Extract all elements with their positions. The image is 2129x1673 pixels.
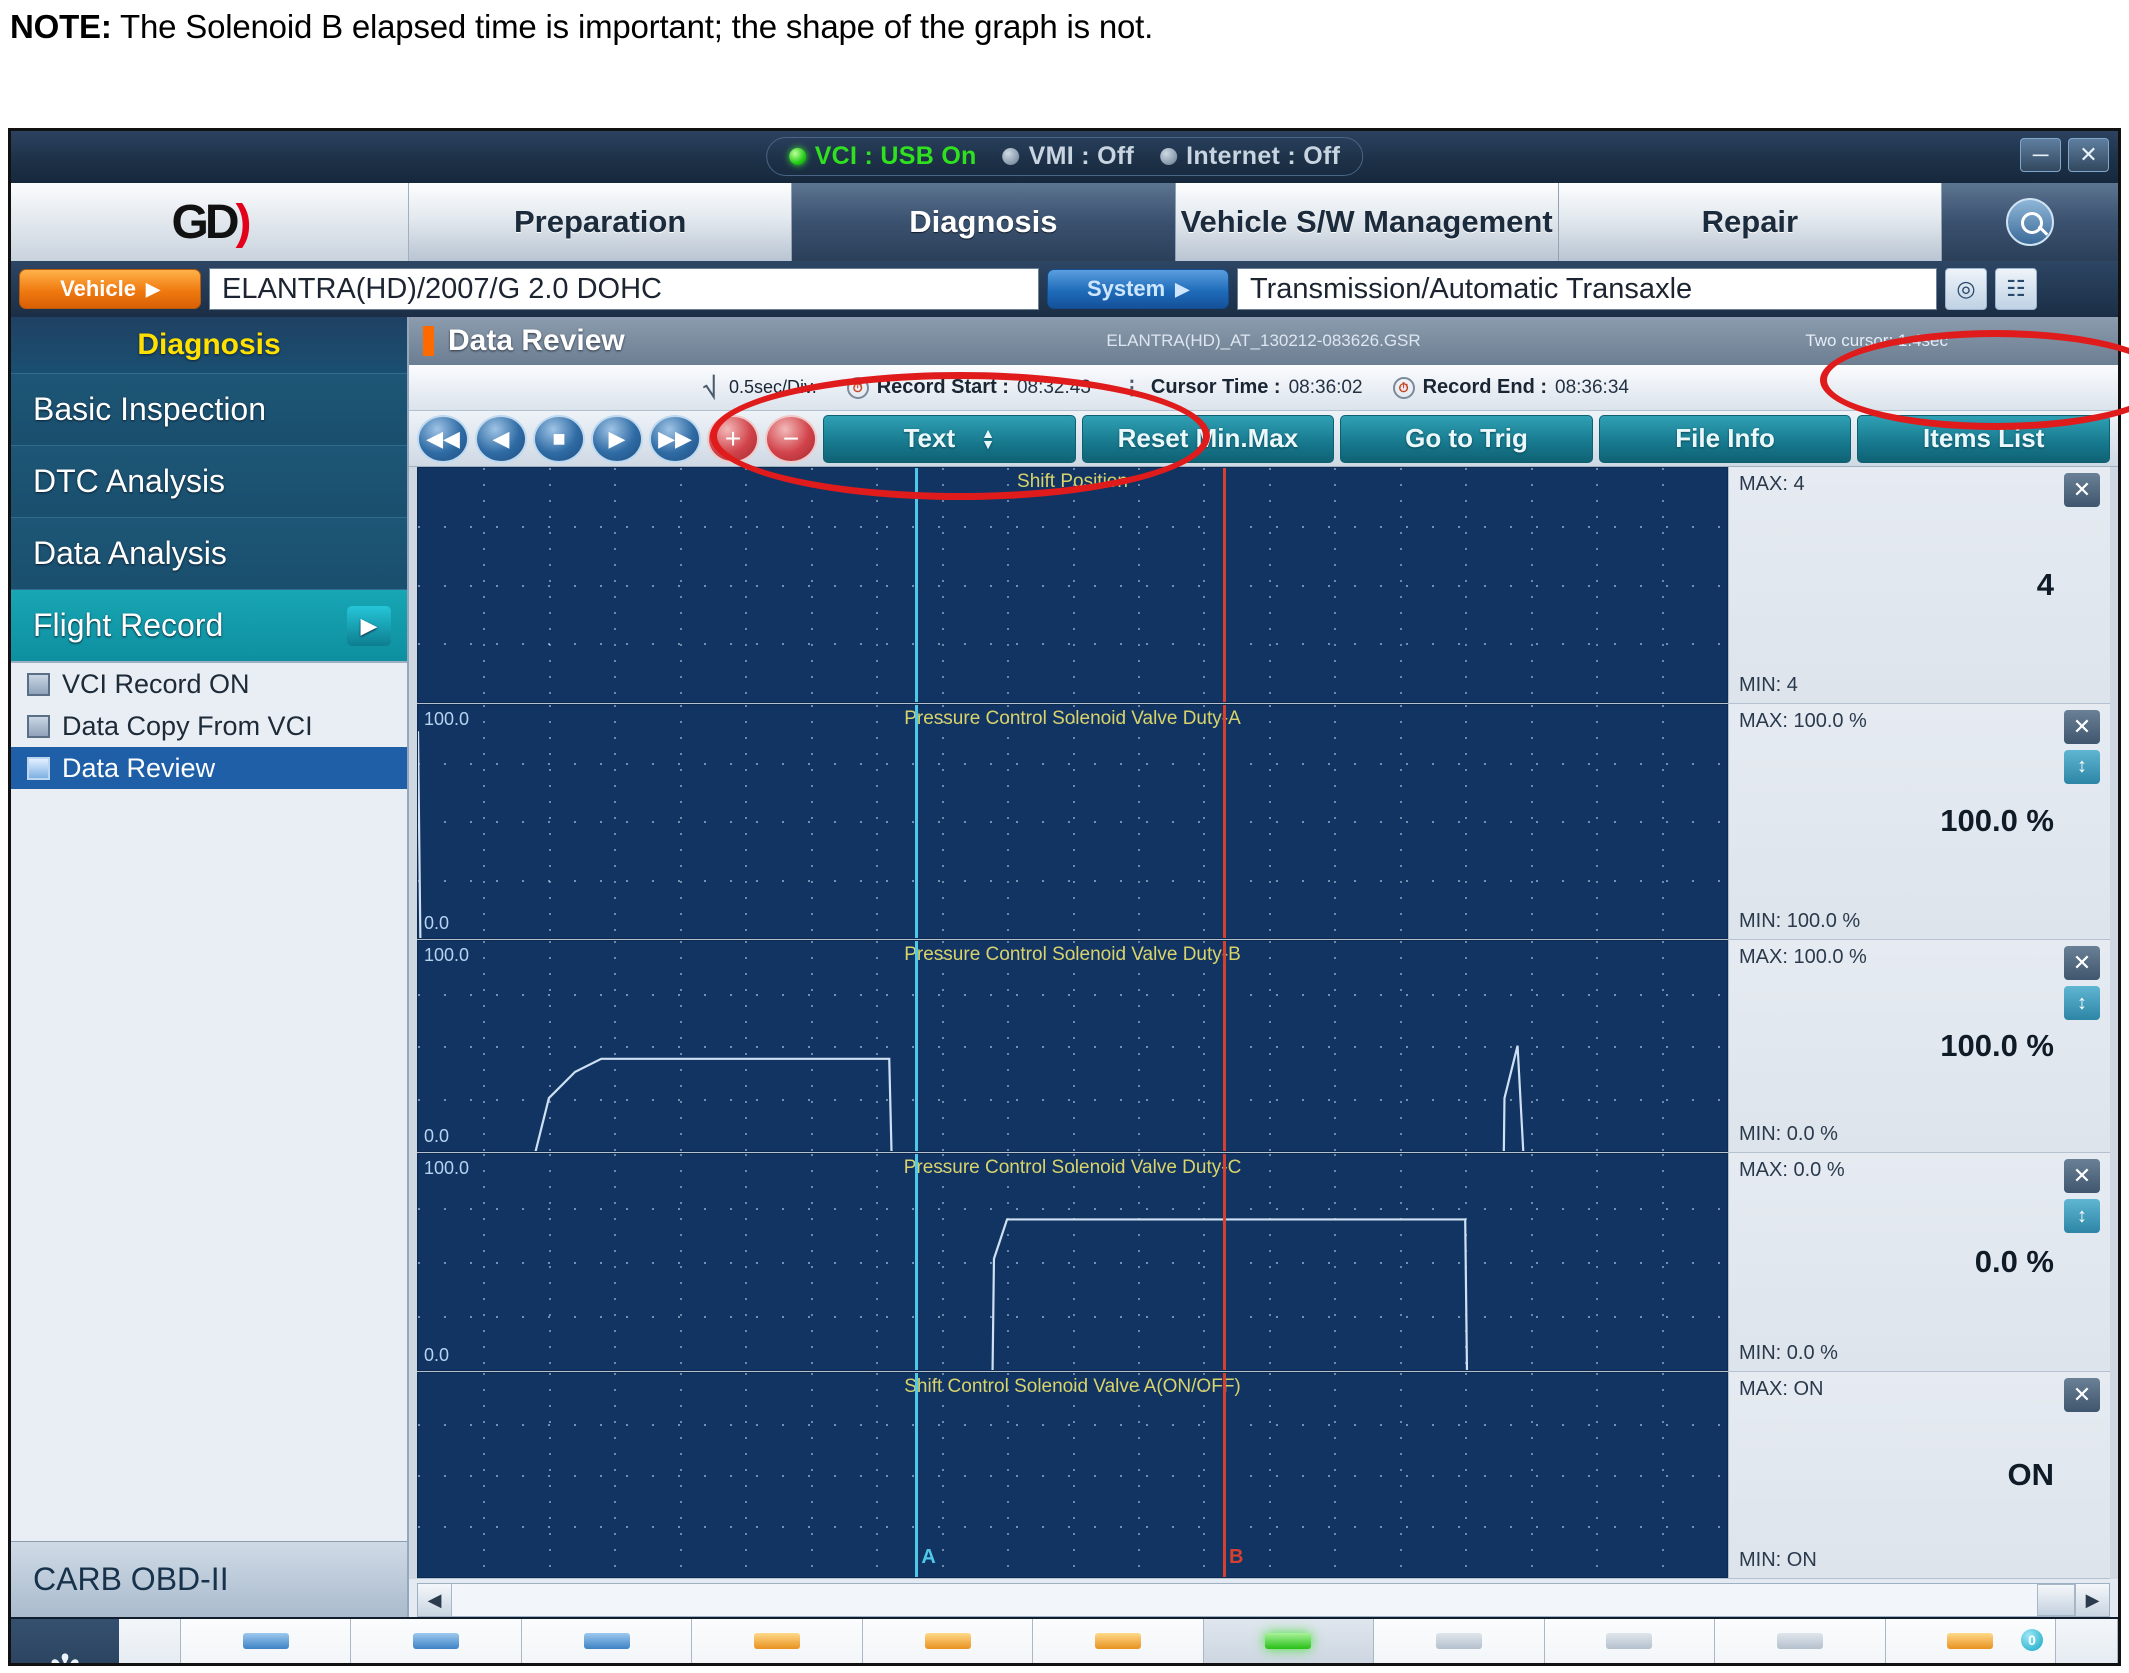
status-led-icon-0 — [243, 1633, 289, 1649]
window-controls: ─ ✕ — [2020, 138, 2109, 172]
graph-row-4: Shift Control Solenoid Valve A(ON/OFF)AB… — [417, 1372, 2110, 1579]
system-button-label: System — [1087, 276, 1165, 302]
forward-to-end-button[interactable]: ▶▶ — [649, 415, 701, 463]
status-led-icon-5 — [1095, 1633, 1141, 1649]
scale-icon-panel-2[interactable]: ↕ — [2064, 986, 2100, 1020]
data-trace-1 — [418, 705, 1727, 940]
list-icon-1 — [27, 673, 50, 696]
body-container: Diagnosis Basic Inspection DTC Analysis … — [11, 317, 2118, 1617]
plot-area-0[interactable]: Shift Position — [417, 467, 1728, 703]
graph-row-2: Pressure Control Solenoid Valve Duty-B10… — [417, 940, 2110, 1153]
stop-button[interactable]: ■ — [533, 415, 585, 463]
graph-panels: Shift PositionMAX: 4MIN: 44✕Pressure Con… — [409, 467, 2118, 1579]
tab-preparation[interactable]: Preparation — [409, 183, 792, 261]
vehicle-info-icon[interactable]: ☷ — [1995, 268, 2037, 310]
plot-area-2[interactable]: Pressure Control Solenoid Valve Duty-B10… — [417, 940, 1728, 1152]
funcbar-item-label-5: Actuation Test — [1037, 1665, 1198, 1666]
internet-led-icon — [1160, 148, 1177, 165]
cursor-a[interactable] — [915, 1154, 918, 1370]
data-trace-4 — [418, 1373, 1727, 1578]
display-mode-select[interactable]: Text ▲ ▼ — [823, 415, 1076, 463]
data-trace-3 — [418, 1154, 1727, 1371]
cursor-b[interactable] — [1223, 468, 1226, 702]
connection-status-bar: VCI : USB On VMI : Off Internet : Off ─ … — [11, 131, 2118, 183]
plot-area-1[interactable]: Pressure Control Solenoid Valve Duty-A10… — [417, 704, 1728, 940]
gear-icon: ✻ — [48, 1652, 82, 1666]
close-icon[interactable]: ✕ — [2068, 138, 2109, 172]
readout-panel-0: MAX: 4MIN: 44✕ — [1728, 467, 2110, 703]
cursor-a-label: A — [921, 1546, 935, 1569]
funcbar-item-case-analysis[interactable]: Case Analysis — [522, 1619, 692, 1666]
record-file-name: ELANTRA(HD)_AT_130212-083626.GSR — [1106, 331, 1420, 351]
internet-status-label: Internet : Off — [1186, 142, 1340, 171]
sidebar-subitem-vci-record-on[interactable]: VCI Record ON — [11, 663, 407, 705]
sidebar-item-data-analysis[interactable]: Data Analysis — [11, 517, 407, 589]
note-prefix: NOTE: — [10, 8, 112, 45]
vmi-led-icon — [1003, 148, 1020, 165]
connection-pill: VCI : USB On VMI : Off Internet : Off — [766, 137, 1364, 176]
sidebar-item-basic-inspection[interactable]: Basic Inspection — [11, 373, 407, 445]
status-led-icon-9 — [1777, 1633, 1823, 1649]
funcbar-item-tsb[interactable]: TSB — [351, 1619, 521, 1666]
status-led-icon-4 — [925, 1633, 971, 1649]
readout-panel-2: MAX: 100.0 %MIN: 0.0 %100.0 %✕↕ — [1728, 940, 2110, 1152]
play-button[interactable]: ▶ — [591, 415, 643, 463]
list-icon-3 — [27, 757, 50, 780]
scale-info: ⎷ 0.5sec/Div. — [699, 377, 817, 399]
funcbar-item-current-data[interactable]: Current Data — [863, 1619, 1033, 1666]
close-icon-panel-4[interactable]: ✕ — [2064, 1378, 2100, 1412]
max-value-0: MAX: 4 — [1739, 473, 1805, 496]
funcbar-item-label-2: Case Analysis — [526, 1665, 687, 1666]
system-button[interactable]: System ▶ — [1047, 269, 1229, 309]
tab-repair[interactable]: Repair — [1559, 183, 1942, 261]
status-led-icon-3 — [754, 1633, 800, 1649]
vci-status-label: VCI : USB On — [815, 142, 977, 171]
graph-row-0: Shift PositionMAX: 4MIN: 44✕ — [417, 467, 2110, 704]
readout-panel-3: MAX: 0.0 %MIN: 0.0 %0.0 %✕↕ — [1728, 1153, 2110, 1371]
close-icon-panel-1[interactable]: ✕ — [2064, 710, 2100, 744]
record-start-value: 08:32:43 — [1017, 377, 1091, 399]
data-review-header: Data Review ELANTRA(HD)_AT_130212-083626… — [409, 317, 2118, 365]
funcbar-item-label-10: Internet Update — [1890, 1665, 2051, 1666]
sidebar-subitem-label-1: VCI Record ON — [62, 669, 250, 700]
bottom-function-bar: ✻ Setup ◀ ManualTSBCase AnalysisDTCCurre… — [11, 1617, 2118, 1666]
sidebar-subitem-label-2: Data Copy From VCI — [62, 711, 313, 742]
vehicle-button[interactable]: Vehicle ▶ — [19, 269, 201, 309]
min-value-1: MIN: 100.0 % — [1739, 910, 1860, 933]
vmi-status[interactable]: VMI : Off — [1003, 142, 1134, 171]
status-led-icon-6 — [1265, 1633, 1311, 1649]
scale-icon-panel-3[interactable]: ↕ — [2064, 1199, 2100, 1233]
chevron-right-icon: ▶ — [146, 279, 160, 300]
record-end-info: ⏱ Record End : 08:36:34 — [1393, 376, 1629, 399]
rewind-to-start-button[interactable]: ◀◀ — [417, 415, 469, 463]
record-start-label: Record Start : — [877, 376, 1009, 399]
sidebar-item-flight-record-label: Flight Record — [33, 607, 223, 644]
plot-area-4[interactable]: Shift Control Solenoid Valve A(ON/OFF)AB — [417, 1372, 1728, 1578]
step-back-button[interactable]: ◀ — [475, 415, 527, 463]
max-value-3: MAX: 0.0 % — [1739, 1159, 1845, 1182]
current-value-4: ON — [2008, 1457, 2055, 1493]
search-button[interactable] — [1942, 183, 2118, 261]
brand-swoosh-icon: ) — [236, 196, 248, 249]
close-icon-panel-0[interactable]: ✕ — [2064, 473, 2100, 507]
scroll-right-icon[interactable]: ▶ — [2075, 1584, 2109, 1616]
main-content: Data Review ELANTRA(HD)_AT_130212-083626… — [409, 317, 2118, 1617]
go-to-trig-button[interactable]: Go to Trig — [1340, 415, 1593, 463]
cursor-time-label: Cursor Time : — [1151, 376, 1281, 399]
horizontal-scrollbar[interactable]: ◀ ▶ — [417, 1583, 2110, 1617]
sidebar-item-carb-obd-ii[interactable]: CARB OBD-II — [11, 1541, 407, 1617]
zoom-in-button[interactable]: + — [707, 415, 759, 463]
funcbar-item-manual[interactable]: Manual — [181, 1619, 351, 1666]
clock-start-icon: ⏱ — [847, 377, 869, 399]
scale-icon-panel-1[interactable]: ↕ — [2064, 750, 2100, 784]
vci-status[interactable]: VCI : USB On — [789, 142, 977, 171]
cursor-b[interactable] — [1223, 1373, 1226, 1577]
vehicle-system-bar: Vehicle ▶ ELANTRA(HD)/2007/G 2.0 DOHC Sy… — [11, 261, 2118, 317]
current-value-2: 100.0 % — [1940, 1028, 2054, 1064]
min-value-4: MIN: ON — [1739, 1549, 1817, 1572]
data-trace-0 — [418, 468, 1727, 703]
two-cursor-readout: Two cursor: 1.4sec — [1805, 331, 1948, 351]
graph-row-3: Pressure Control Solenoid Valve Duty-C10… — [417, 1153, 2110, 1372]
zoom-out-button[interactable]: − — [765, 415, 817, 463]
status-led-icon-1 — [413, 1633, 459, 1649]
sidebar-subitem-data-review[interactable]: Data Review — [11, 747, 407, 789]
funcbar-item-dtc[interactable]: DTC — [692, 1619, 862, 1666]
plot-area-3[interactable]: Pressure Control Solenoid Valve Duty-C10… — [417, 1153, 1728, 1371]
close-icon-panel-3[interactable]: ✕ — [2064, 1159, 2100, 1193]
min-value-3: MIN: 0.0 % — [1739, 1342, 1838, 1365]
status-led-icon-10 — [1947, 1633, 1993, 1649]
vmi-status-label: VMI : Off — [1029, 142, 1134, 171]
record-start-info: ⏱ Record Start : 08:32:43 — [847, 376, 1091, 399]
sidebar-item-dtc-analysis[interactable]: DTC Analysis — [11, 445, 407, 517]
list-icon-2 — [27, 715, 50, 738]
funcbar-item-dvom[interactable]: DVOM — [1374, 1619, 1544, 1666]
cursor-b[interactable] — [1223, 941, 1226, 1151]
funcbar-item-oscilloscope[interactable]: Oscilloscope — [1545, 1619, 1715, 1666]
clock-end-icon: ⏱ — [1393, 377, 1415, 399]
funcbar-item-internet-update[interactable]: Internet Update0 — [1886, 1619, 2056, 1666]
tab-diagnosis[interactable]: Diagnosis — [792, 183, 1175, 261]
status-led-icon-8 — [1606, 1633, 1652, 1649]
gds-application-window: VCI : USB On VMI : Off Internet : Off ─ … — [8, 128, 2121, 1666]
camera-icon[interactable]: ◎ — [1945, 268, 1987, 310]
note-body: The Solenoid B elapsed time is important… — [112, 8, 1153, 45]
reset-min-max-button[interactable]: Reset Min.Max — [1082, 415, 1335, 463]
current-value-3: 0.0 % — [1975, 1244, 2054, 1280]
display-mode-label: Text — [904, 423, 956, 454]
min-value-2: MIN: 0.0 % — [1739, 1123, 1838, 1146]
main-tab-bar: GD) Preparation Diagnosis Vehicle S/W Ma… — [11, 183, 2118, 261]
spinner-down-icon: ▼ — [981, 439, 995, 450]
chevron-right-icon-sidebar: ▶ — [347, 606, 391, 646]
search-icon — [2006, 198, 2054, 246]
scale-label: 0.5sec/Div. — [729, 377, 817, 398]
scroll-left-icon[interactable]: ◀ — [418, 1584, 452, 1616]
close-icon-panel-2[interactable]: ✕ — [2064, 946, 2100, 980]
cursor-b[interactable] — [1223, 705, 1226, 939]
status-led-icon-2 — [584, 1633, 630, 1649]
spinner-icon: ▲ ▼ — [981, 428, 995, 450]
funcbar-item-label-9: Simulation Test — [1719, 1665, 1880, 1666]
sidebar-subitems: VCI Record ON Data Copy From VCI Data Re… — [11, 661, 407, 1541]
ruler-icon: ⎷ — [699, 377, 721, 399]
system-input[interactable]: Transmission/Automatic Transaxle — [1237, 268, 1937, 310]
max-value-4: MAX: ON — [1739, 1378, 1823, 1401]
readout-panel-4: MAX: ONMIN: ONON✕ — [1728, 1372, 2110, 1578]
funcbar-next-icon[interactable]: ▶ — [2056, 1619, 2118, 1666]
current-value-0: 4 — [2037, 567, 2054, 603]
current-value-1: 100.0 % — [1940, 803, 2054, 839]
page-title: Data Review — [448, 324, 625, 358]
data-trace-2 — [418, 941, 1727, 1152]
tab-vehicle-sw-management[interactable]: Vehicle S/W Management — [1176, 183, 1559, 261]
cursor-b[interactable] — [1223, 1154, 1226, 1370]
sidebar-subitem-label-3: Data Review — [62, 753, 215, 784]
status-led-icon-7 — [1436, 1633, 1482, 1649]
chevron-right-icon-2: ▶ — [1175, 279, 1189, 300]
items-list-button[interactable]: Items List — [1857, 415, 2110, 463]
vci-led-icon — [789, 148, 806, 165]
funcbar-item-actuation-test[interactable]: Actuation Test — [1033, 1619, 1203, 1666]
header-accent-bar — [423, 326, 434, 356]
cursor-a[interactable] — [915, 705, 918, 939]
left-sidebar: Diagnosis Basic Inspection DTC Analysis … — [11, 317, 409, 1617]
cursor-a[interactable] — [915, 941, 918, 1151]
update-badge: 0 — [2021, 1629, 2043, 1651]
max-value-1: MAX: 100.0 % — [1739, 710, 1867, 733]
min-value-0: MIN: 4 — [1739, 674, 1798, 697]
readout-panel-1: MAX: 100.0 %MIN: 100.0 %100.0 %✕↕ — [1728, 704, 2110, 940]
graph-row-1: Pressure Control Solenoid Valve Duty-A10… — [417, 704, 2110, 941]
record-end-label: Record End : — [1423, 376, 1547, 399]
sidebar-subitem-data-copy-from-vci[interactable]: Data Copy From VCI — [11, 705, 407, 747]
playback-toolbar: ◀◀ ◀ ■ ▶ ▶▶ + − Text ▲ ▼ Reset Min.Max G… — [409, 411, 2118, 467]
vehicle-input[interactable]: ELANTRA(HD)/2007/G 2.0 DOHC — [209, 268, 1039, 310]
funcbar-item-simulation-test[interactable]: Simulation Test — [1715, 1619, 1885, 1666]
scroll-thumb[interactable] — [2037, 1584, 2075, 1616]
gds-logo: GD) — [11, 183, 409, 261]
minimize-icon[interactable]: ─ — [2020, 138, 2061, 172]
record-end-value: 08:36:34 — [1555, 377, 1629, 399]
scroll-track[interactable] — [452, 1584, 2075, 1616]
file-info-button[interactable]: File Info — [1599, 415, 1852, 463]
brand-text: GD — [172, 196, 236, 249]
funcbar-prev-icon[interactable]: ◀ — [119, 1619, 181, 1666]
cursor-icon: ⋮ — [1121, 377, 1143, 399]
vehicle-button-label: Vehicle — [60, 276, 136, 302]
cursor-time-info: ⋮ Cursor Time : 08:36:02 — [1121, 376, 1363, 399]
record-info-bar: ⎷ 0.5sec/Div. ⏱ Record Start : 08:32:43 … — [409, 365, 2118, 411]
cursor-time-value: 08:36:02 — [1289, 377, 1363, 399]
cursor-b-label: B — [1229, 1546, 1243, 1569]
internet-status[interactable]: Internet : Off — [1160, 142, 1340, 171]
cursor-a[interactable] — [915, 1373, 918, 1577]
note-text: NOTE: The Solenoid B elapsed time is imp… — [10, 8, 1153, 46]
max-value-2: MAX: 100.0 % — [1739, 946, 1867, 969]
sidebar-title: Diagnosis — [11, 317, 407, 373]
cursor-a[interactable] — [915, 468, 918, 702]
funcbar-item-flight-record[interactable]: Flight Record — [1204, 1619, 1374, 1666]
setup-button[interactable]: ✻ Setup — [11, 1619, 119, 1666]
sidebar-item-flight-record[interactable]: Flight Record ▶ — [11, 589, 407, 661]
